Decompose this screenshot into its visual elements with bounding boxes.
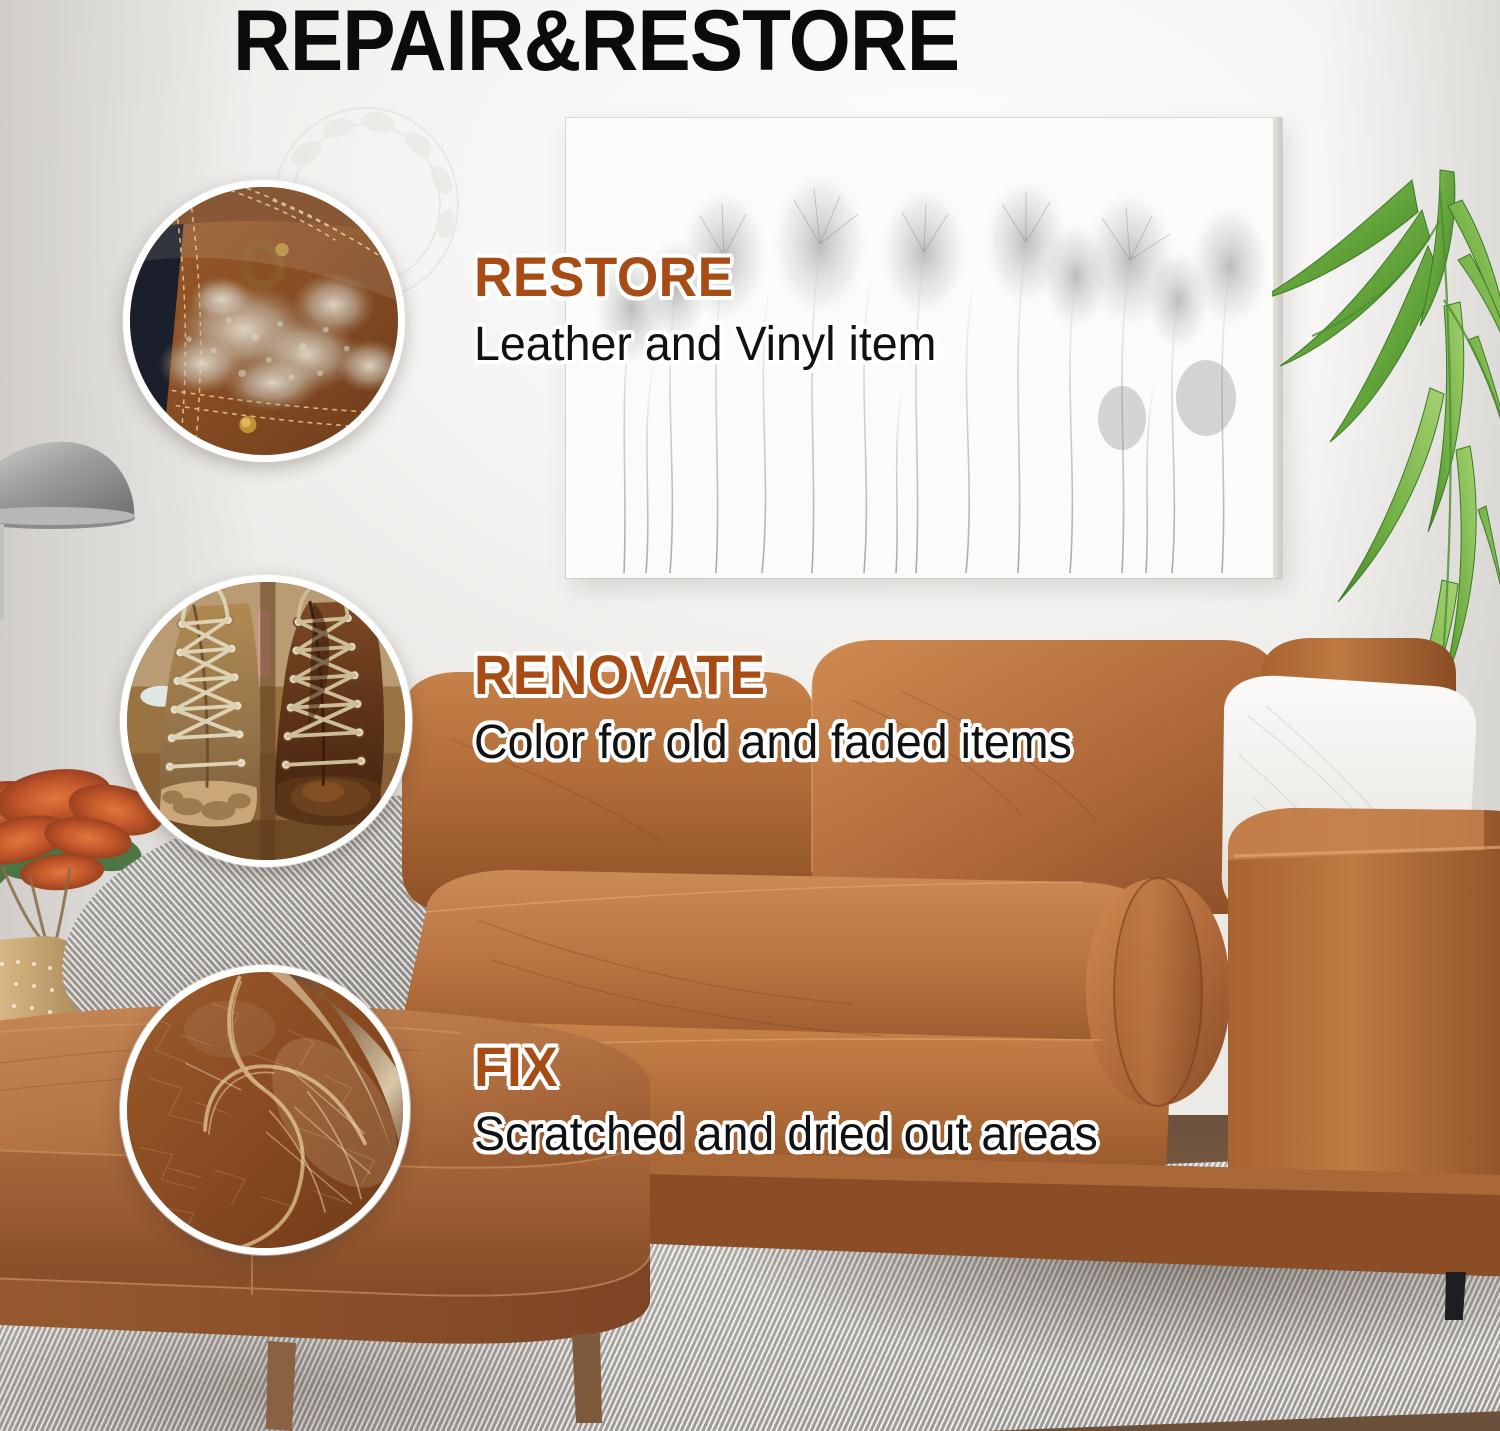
feature-renovate-subtitle: Color for old and faded items xyxy=(474,714,1072,772)
feature-renovate: RENOVATE Color for old and faded items xyxy=(474,644,1090,772)
feature-renovate-heading: RENOVATE xyxy=(474,644,1060,706)
feature-restore: RESTORE Leather and Vinyl item xyxy=(474,246,951,374)
page-title: REPAIR&RESTORE xyxy=(233,0,959,86)
feature-fix: FIX Scratched and dried out areas xyxy=(474,1036,1117,1164)
inset-renovate-image xyxy=(120,575,412,867)
feature-restore-subtitle: Leather and Vinyl item xyxy=(474,316,936,374)
inset-restore-image xyxy=(123,180,405,462)
feature-fix-heading: FIX xyxy=(474,1036,1085,1098)
product-infographic: REPAIR&RESTORE RESTORE Leather and Vinyl… xyxy=(0,0,1500,1431)
scratched-leather-closeup xyxy=(127,972,403,1248)
before-after-work-boots xyxy=(127,582,405,860)
feature-fix-subtitle: Scratched and dried out areas xyxy=(474,1106,1098,1164)
mildewed-leather-bag xyxy=(130,187,398,455)
inset-fix-image xyxy=(120,965,410,1255)
feature-restore-heading: RESTORE xyxy=(474,246,927,308)
